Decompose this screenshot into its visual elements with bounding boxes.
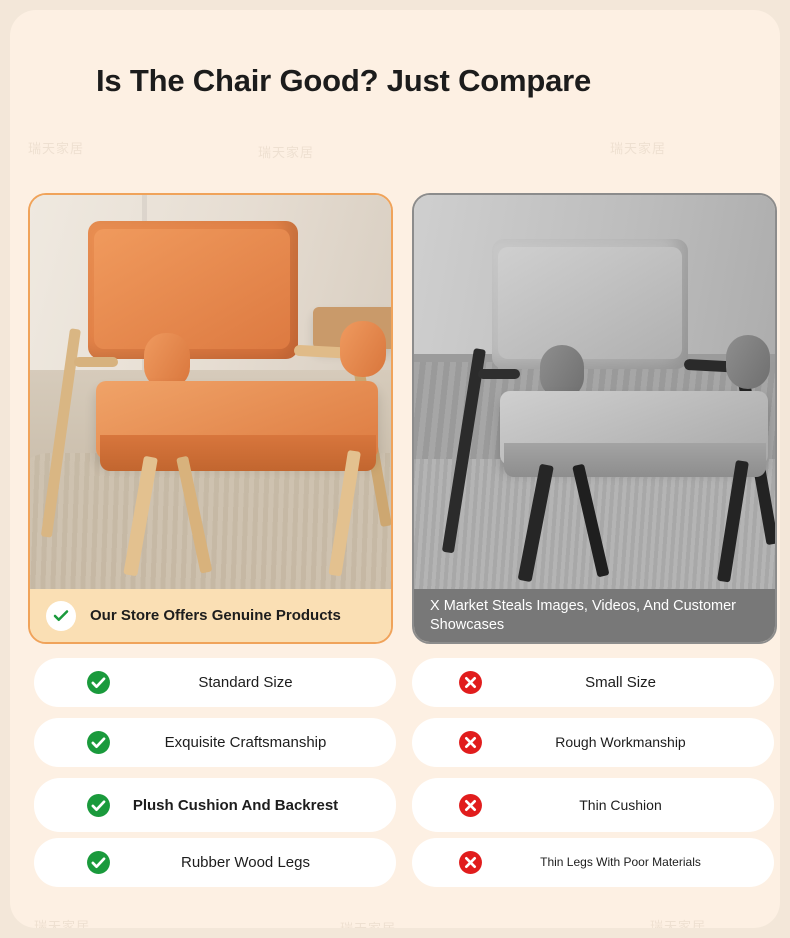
watermark-text: 瑞天家居 [610, 138, 666, 157]
check-circle-icon [86, 850, 111, 875]
row-label: Small Size [483, 673, 774, 692]
caption-counterfeit: X Market Steals Images, Videos, And Cust… [414, 589, 775, 642]
caption-genuine: Our Store Offers Genuine Products [30, 589, 391, 642]
watermark-text: 瑞天家居 [650, 916, 706, 928]
watermark-text: 瑞天家居 [28, 138, 84, 157]
poster-page: 瑞天家居 瑞天家居 瑞天家居 瑞天家居 瑞天家居 瑞天家居 Is The Cha… [0, 0, 790, 938]
table-row: Plush Cushion And Backrest [34, 778, 396, 832]
watermark-text: 瑞天家居 [340, 918, 396, 928]
check-circle-icon [86, 793, 111, 818]
table-row: Standard Size [34, 658, 396, 707]
watermark-text: 瑞天家居 [34, 916, 90, 928]
row-label: Standard Size [111, 673, 396, 692]
check-circle-icon [46, 601, 76, 631]
row-label: Thin Legs With Poor Materials [483, 853, 774, 872]
watermark-text: 瑞天家居 [258, 142, 314, 161]
product-panel-counterfeit: X Market Steals Images, Videos, And Cust… [412, 193, 777, 644]
caption-counterfeit-text: X Market Steals Images, Videos, And Cust… [430, 597, 759, 635]
product-panel-genuine: Our Store Offers Genuine Products [28, 193, 393, 644]
cross-circle-icon [458, 793, 483, 818]
check-circle-icon [86, 670, 111, 695]
table-row: Thin Cushion [412, 778, 774, 832]
row-label: Exquisite Craftsmanship [111, 733, 396, 752]
check-circle-icon [86, 730, 111, 755]
table-row: Rubber Wood Legs [34, 838, 396, 887]
caption-genuine-text: Our Store Offers Genuine Products [90, 606, 341, 625]
poster-card: 瑞天家居 瑞天家居 瑞天家居 瑞天家居 瑞天家居 瑞天家居 Is The Cha… [10, 10, 780, 928]
row-label: Rubber Wood Legs [111, 853, 396, 872]
table-row: Rough Workmanship [412, 718, 774, 767]
table-row: Small Size [412, 658, 774, 707]
cross-circle-icon [458, 850, 483, 875]
product-photo-genuine [30, 195, 391, 593]
table-row: Thin Legs With Poor Materials [412, 838, 774, 887]
cross-circle-icon [458, 670, 483, 695]
cross-circle-icon [458, 730, 483, 755]
row-label: Rough Workmanship [483, 733, 774, 752]
page-title: Is The Chair Good? Just Compare [96, 62, 696, 100]
product-photo-counterfeit [414, 195, 775, 593]
row-label: Thin Cushion [483, 796, 774, 815]
table-row: Exquisite Craftsmanship [34, 718, 396, 767]
row-label: Plush Cushion And Backrest [111, 796, 396, 815]
